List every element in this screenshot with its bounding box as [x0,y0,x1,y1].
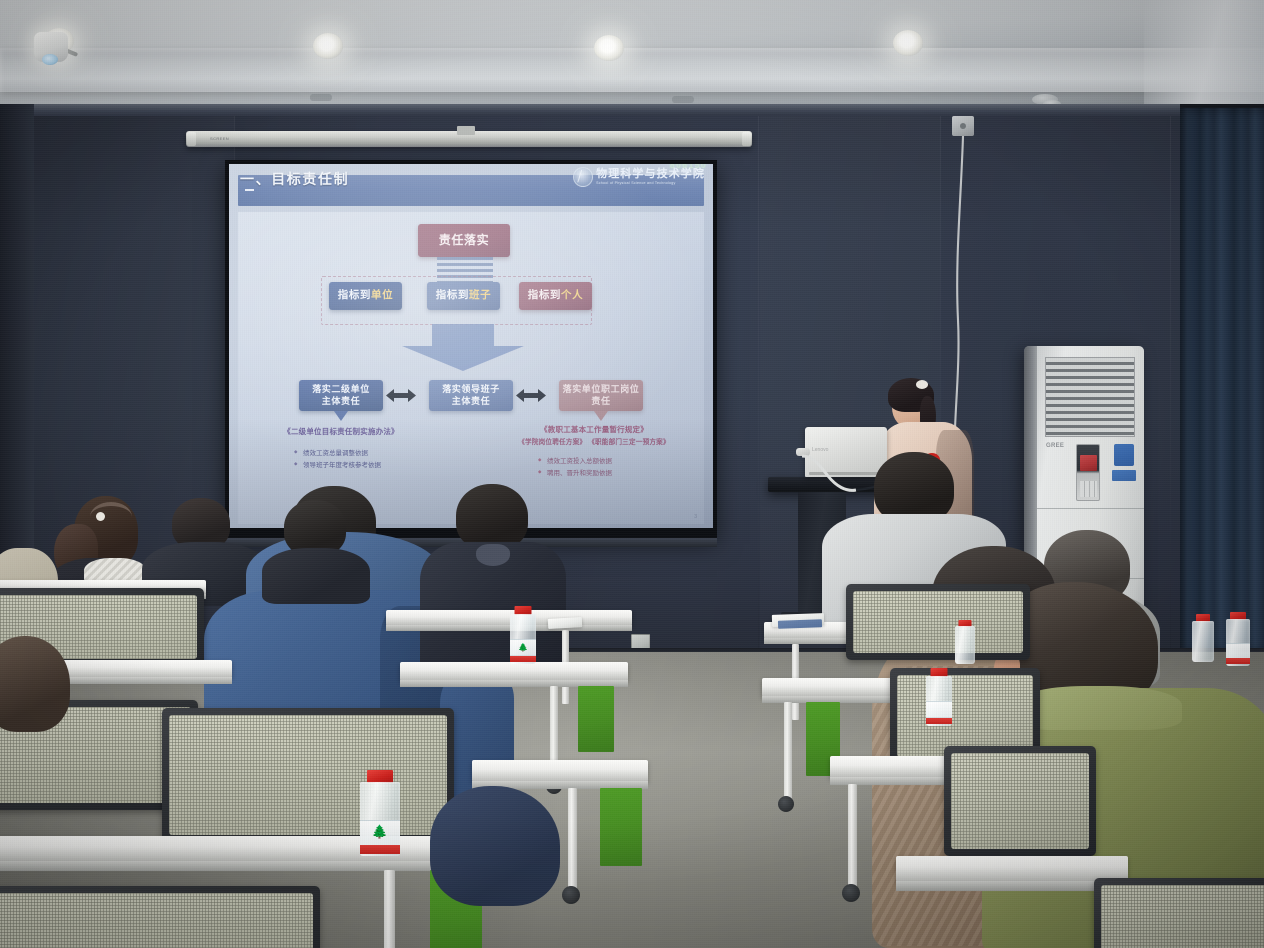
notes-right-bullets: 绩效工资投入总额依据 聘用、晋升和奖励依据 [538,456,612,481]
handout-papers-cover[interactable] [778,619,822,629]
row2-box1-line2: 主体责任 [312,396,370,407]
desk-top [386,610,632,626]
mesh-back-chair[interactable] [0,886,320,948]
desk-side-panel [600,788,642,866]
recessed-downlight [313,33,343,59]
desk-caster [562,886,580,904]
bidirectional-arrow-icon [386,388,416,403]
bidirectional-arrow-icon [516,388,546,403]
desk-top [400,662,628,681]
training-desk [386,610,632,634]
row1-box3-highlight: 个人 [561,289,583,302]
desk-leg [568,788,577,892]
notes-right-heading-1: 《教职工基本工作量暂行规定》 [504,424,684,435]
bottle-label-red-band [360,845,400,854]
row1-box1-prefix: 指标到 [338,289,371,302]
notes-left-heading: 《二级单位目标责任制实施办法》 [267,426,415,437]
desk-leg [784,702,792,800]
diagram-row1-box-1: 指标到单位 [329,282,402,310]
slide-page-number: 3 [694,514,697,520]
desk-edge [386,625,632,631]
chair-mesh-back [1101,885,1264,948]
bottle-leaf-icon: 🌲 [372,825,388,838]
bottle-body [1192,621,1214,662]
desk-caster [842,884,860,902]
bottle-label-red-band [510,656,536,662]
ac-panel-seam [1037,508,1144,509]
recessed-downlight [893,30,923,56]
row1-box3-prefix: 指标到 [528,289,561,302]
ac-brand-label: GREE [1046,443,1064,449]
notes-right-heading-2: 《学院岗位聘任方案》 《职能部门三定一预方案》 [486,438,702,448]
screen-housing-end-cap [187,132,196,146]
wall-seam [1170,116,1171,656]
window-curtain [1180,108,1264,653]
bottle-label [1226,643,1250,659]
ac-control-panel[interactable] [1076,444,1100,501]
ceiling-vent [672,96,694,103]
mesh-back-chair[interactable] [162,708,454,842]
row1-box1-highlight: 单位 [371,289,393,302]
ac-energy-label [1114,444,1134,466]
handout-papers[interactable] [548,617,582,629]
training-desk [400,662,628,692]
title-tick-mark [245,189,254,191]
chair-mesh-back [853,591,1023,653]
bottle-body [955,626,975,664]
desk-leg [848,784,857,890]
bottle-label [926,701,952,718]
water-bottle[interactable] [1226,612,1250,666]
university-seal-icon [573,167,593,187]
notes-left-bullet: 领导班子年度考核参考依据 [294,460,381,472]
attendee-hair [456,484,528,550]
mesh-back-chair[interactable] [944,746,1096,856]
row1-box2-highlight: 班子 [469,289,491,302]
diagram-row1-box-2: 指标到班子 [427,282,500,310]
projector-lens-icon [42,54,58,65]
ac-keypad[interactable] [1080,481,1097,497]
attendee-jacket [262,548,370,604]
hair-clip-bead-icon [96,512,105,521]
diagram-down-arrow-icon [398,324,528,372]
desk-side-panel [578,686,614,752]
wall-junction-box [952,116,974,136]
water-bottle[interactable]: 🌲 [510,606,536,664]
bottle-leaf-icon: 🌲 [518,644,528,652]
water-bottle[interactable] [1192,614,1214,662]
row2-box2-line1: 落实领导班子 [442,384,500,395]
screen-center-mount [457,126,475,135]
bottle-label-red-band [1226,658,1250,664]
water-bottle[interactable] [926,668,952,726]
ac-info-sticker [1112,470,1136,481]
screen-housing-end-cap [742,132,751,146]
desk-leg [384,870,395,948]
water-bottle[interactable] [955,620,975,664]
slide-title: 一、目标责任制 [240,169,349,189]
bottle-label-red-band [926,718,952,724]
ceiling-right-slope [1144,0,1264,108]
diagram-row2-box-1: 落实二级单位 主体责任 [299,380,383,411]
presenter-hair-tie [916,380,928,389]
conference-room-scene: SCREEN 806150 一、目标责任制 物理科学与技术学院 School o… [0,0,1264,948]
diagram-top-box: 责任落实 [418,224,510,257]
desk-caster [778,796,794,812]
notes-left-bullets: 绩效工资总量调整依据 领导班子年度考核参考依据 [294,448,381,473]
wall-top-trim [0,104,1264,116]
ac-display-screen [1080,455,1097,471]
desk-top [472,760,648,782]
ceiling [0,0,1264,108]
row2-box3-line1: 落实单位职工岗位责任 [559,384,643,407]
callout-pointer [334,411,348,421]
diagram-row2-box-3: 落实单位职工岗位责任 [559,380,643,411]
screen-housing-label: SCREEN [210,136,229,141]
ac-air-grille [1045,357,1135,437]
logo-name-en: School of Physical Science and Technolog… [596,182,705,186]
row2-box1-line1: 落实二级单位 [312,384,370,395]
attendee-man-center-right [420,484,566,674]
mesh-back-chair[interactable] [846,584,1030,660]
notes-right-bullet: 绩效工资投入总额依据 [538,456,612,468]
logo-name-cn: 物理科学与技术学院 [596,169,705,180]
diagram-row1-box-3: 指标到个人 [519,282,592,310]
water-bottle[interactable]: 🌲 [360,770,400,856]
attendee-collar [476,544,510,566]
notes-left-bullet: 绩效工资总量调整依据 [294,448,381,460]
recessed-downlight [594,35,624,61]
chair-mesh-back [897,675,1033,757]
chair-mesh-back [169,715,447,835]
slide-content: 806150 一、目标责任制 物理科学与技术学院 School of Physi… [229,164,713,528]
chair-mesh-back [0,893,313,948]
ceiling-recess-cove [0,48,1264,92]
projected-slide: 806150 一、目标责任制 物理科学与技术学院 School of Physi… [229,164,713,528]
ceiling-vent [310,94,332,101]
slide-diagram-area: 责任落实 指标到单位 指标到班子 指标到个人 [238,212,704,524]
projector-screen: 806150 一、目标责任制 物理科学与技术学院 School of Physi… [225,160,717,538]
ceiling-projector [30,24,76,72]
wall-seam [758,116,759,656]
institution-logo: 物理科学与技术学院 School of Physical Science and… [573,167,705,187]
chair-mesh-back [951,753,1089,849]
callout-pointer [594,411,608,421]
attendee-man-center-rear [262,500,370,592]
row2-box2-line2: 主体责任 [442,396,500,407]
attendee-head-foreground-center [430,786,560,906]
diagram-row2-box-2: 落实领导班子 主体责任 [429,380,513,411]
row1-box2-prefix: 指标到 [436,289,469,302]
mesh-back-chair[interactable] [1094,878,1264,948]
notes-right-bullet: 聘用、晋升和奖励依据 [538,468,612,480]
